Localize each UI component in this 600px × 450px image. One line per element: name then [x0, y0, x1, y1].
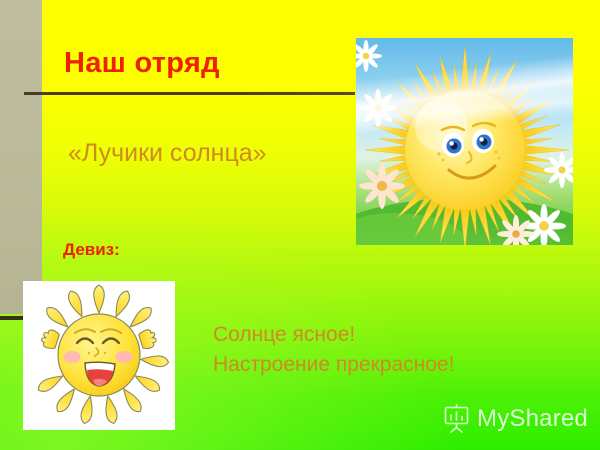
- motto-label: Девиз:: [63, 240, 120, 260]
- title-divider-rule: [24, 92, 355, 95]
- laughing-sun-svg: [23, 281, 175, 430]
- myshared-watermark: MyShared: [443, 404, 588, 433]
- watermark-label: MyShared: [477, 405, 588, 433]
- presentation-board-icon: [443, 404, 470, 433]
- left-sidebar-band: [0, 0, 42, 314]
- motto-line-2: Настроение прекрасное!: [213, 350, 454, 380]
- motto-line-1: Солнце ясное!: [213, 320, 454, 350]
- smiling-sun-photo: [356, 38, 573, 245]
- page-title: Наш отряд: [64, 47, 220, 80]
- presentation-slide: Наш отряд «Лучики солнца» Девиз: Солнце …: [0, 0, 600, 450]
- squad-name-subtitle: «Лучики солнца»: [68, 139, 267, 168]
- laughing-sun-clipart: [23, 281, 175, 430]
- motto-text: Солнце ясное! Настроение прекрасное!: [213, 320, 454, 380]
